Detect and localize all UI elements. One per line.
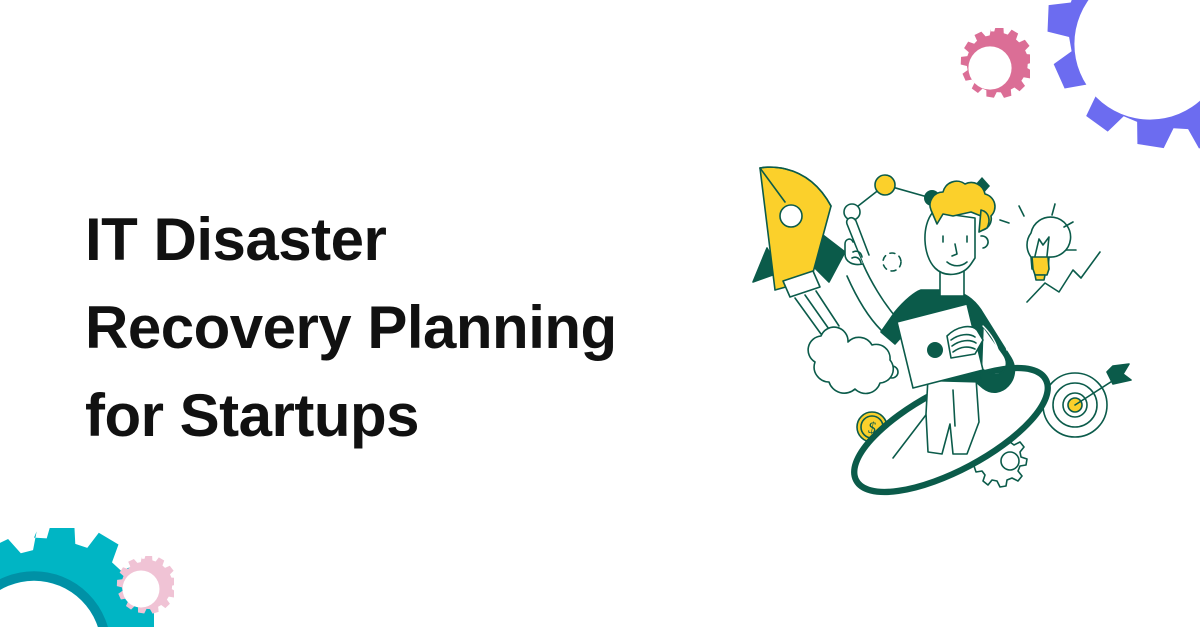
target-with-arrow-icon: [1043, 364, 1131, 437]
light-pink-gear-icon: [108, 556, 174, 622]
pink-gear-icon: [950, 28, 1030, 108]
lightbulb-icon: [1000, 204, 1076, 280]
rocket-icon: [753, 167, 893, 393]
rocket-smoke-icon: [808, 327, 893, 393]
banner: IT Disaster Recovery Planning for Startu…: [0, 0, 1200, 627]
page-title-line-1: IT Disaster: [85, 196, 725, 284]
page-title-line-3: for Startups: [85, 372, 725, 460]
dashed-circle-icon: [883, 253, 901, 271]
page-title-line-2: Recovery Planning: [85, 284, 725, 372]
network-nodes-icon: [844, 175, 940, 220]
page-title: IT Disaster Recovery Planning for Startu…: [85, 196, 725, 460]
startup-launch-illustration: $: [735, 140, 1165, 510]
